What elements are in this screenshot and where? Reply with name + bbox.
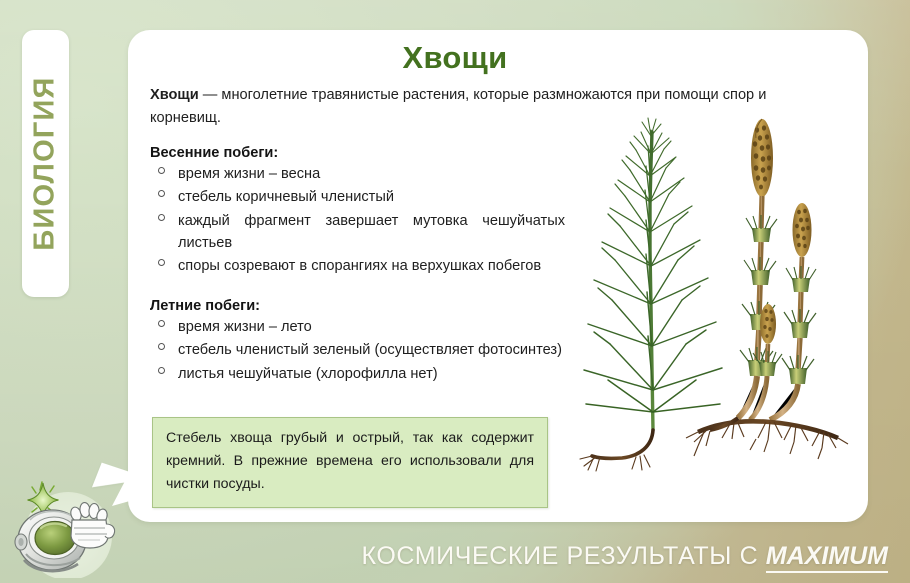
circle-bullet-icon — [158, 367, 165, 374]
summer-shoot-green — [580, 118, 722, 471]
footer-brand: КОСМИЧЕСКИЕ РЕЗУЛЬТАТЫ С MAXIMUM — [361, 542, 888, 571]
list-item-text: время жизни – весна — [178, 166, 320, 182]
list-item: стебель членистый зеленый (осуществляет … — [150, 339, 565, 361]
fact-callout-box: Стебель хвоща грубый и острый, так как с… — [152, 417, 548, 508]
node-sheath — [744, 257, 776, 285]
footer-brand-name: MAXIMUM — [766, 542, 888, 573]
circle-bullet-icon — [158, 190, 165, 197]
spring-bullet-list: время жизни – весна стебель коричневый ч… — [150, 163, 580, 278]
page-title: Хвощи — [0, 40, 910, 76]
circle-bullet-icon — [158, 320, 165, 327]
section-summer-heading: Летние побеги: — [150, 298, 580, 314]
node-sheath — [784, 309, 816, 338]
node-sheath — [746, 215, 777, 242]
list-item: время жизни – лето — [150, 316, 565, 338]
intro-lead-term: Хвощи — [150, 87, 199, 103]
footer-text: КОСМИЧЕСКИЕ РЕЗУЛЬТАТЫ С — [361, 542, 765, 570]
node-sheath — [786, 266, 816, 292]
list-item: споры созревают в спорангиях на верхушка… — [150, 255, 565, 277]
spring-shoots-brown — [686, 119, 848, 459]
list-item-text: время жизни – лето — [178, 319, 312, 335]
sidebar-subject-label: БИОЛОГИЯ — [29, 76, 62, 250]
list-item-text: стебель коричневый членистый — [178, 189, 394, 205]
list-item: листья чешуйчатые (хлорофилла нет) — [150, 363, 565, 385]
astronaut-mascot — [8, 478, 138, 578]
section-spring-shoots: Весенние побеги: время жизни – весна сте… — [150, 145, 580, 279]
list-item-text: листья чешуйчатые (хлорофилла нет) — [178, 366, 438, 382]
circle-bullet-icon — [158, 214, 165, 221]
horsetail-plant-illustration — [570, 112, 860, 482]
section-summer-shoots: Летние побеги: время жизни – лето стебел… — [150, 298, 580, 386]
list-item-text: стебель членистый зеленый (осуществляет … — [178, 342, 562, 358]
list-item-text: споры созревают в спорангиях на верхушка… — [178, 258, 541, 274]
spore-cone-tall — [751, 119, 773, 197]
section-spring-heading: Весенние побеги: — [150, 145, 580, 161]
spore-cone-short — [760, 304, 776, 344]
list-item: каждый фрагмент завершает мутовка чешуйч… — [150, 210, 565, 255]
list-item: время жизни – весна — [150, 163, 565, 185]
circle-bullet-icon — [158, 343, 165, 350]
node-sheath — [782, 355, 814, 384]
summer-bullet-list: время жизни – лето стебель членистый зел… — [150, 316, 580, 385]
list-item: стебель коричневый членистый — [150, 186, 565, 208]
circle-bullet-icon — [158, 167, 165, 174]
spore-cone-medium — [793, 203, 812, 257]
list-item-text: каждый фрагмент завершает мутовка чешуйч… — [178, 213, 565, 251]
circle-bullet-icon — [158, 259, 165, 266]
